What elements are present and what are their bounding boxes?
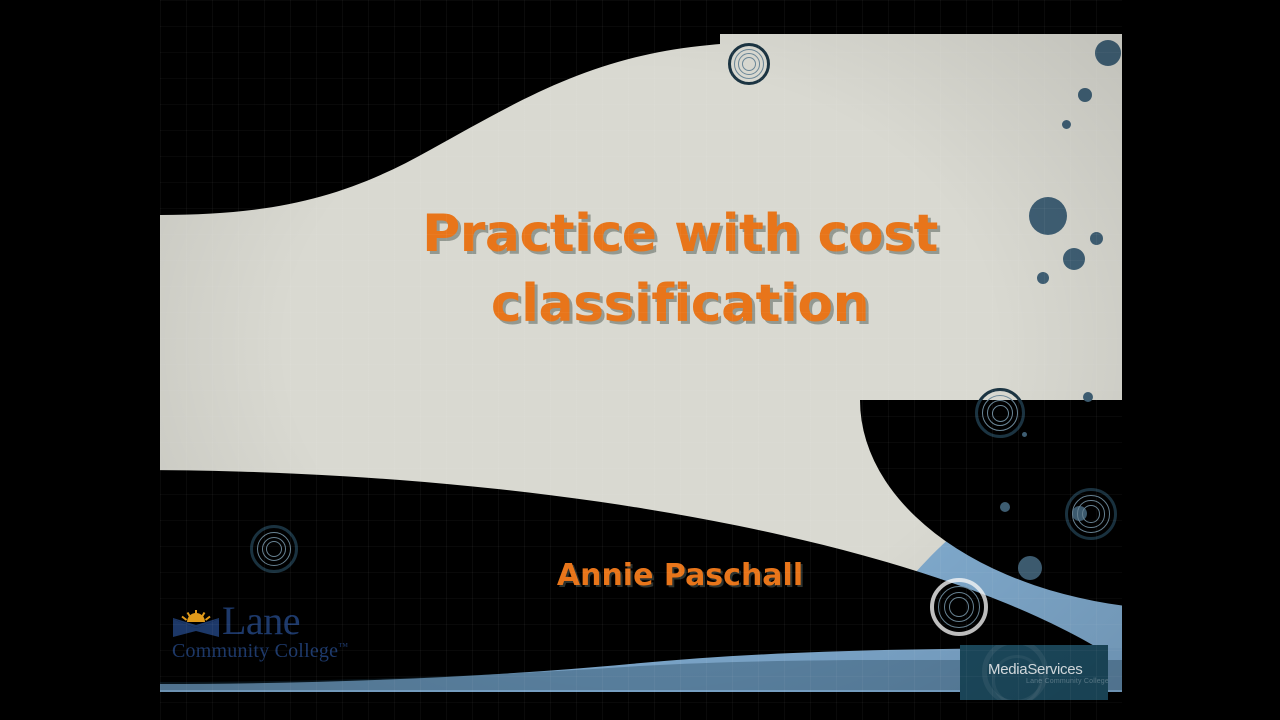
decor-dot xyxy=(1037,272,1049,284)
media-services-watermark: MediaServices Lane Community College xyxy=(960,645,1108,700)
decor-dot xyxy=(1000,502,1010,512)
decor-ring xyxy=(949,597,969,617)
logo-subtext-row: Community College™ xyxy=(172,640,348,663)
decor-ring-group xyxy=(728,43,770,85)
slide-title: Practice with cost classification xyxy=(420,200,940,339)
decor-dot xyxy=(1078,88,1092,102)
logo-trademark: ™ xyxy=(338,641,348,652)
open-book-with-sunrise-icon xyxy=(172,606,220,638)
decor-dot xyxy=(1062,120,1071,129)
slide-presenter-name: Annie Paschall xyxy=(420,558,940,593)
watermark-sublabel: Lane Community College xyxy=(1026,678,1108,685)
decor-ring-group xyxy=(250,525,298,573)
watermark-label: MediaServices xyxy=(988,661,1082,678)
decor-dot xyxy=(1083,392,1093,402)
decor-ring xyxy=(992,405,1009,422)
decor-ring xyxy=(1082,505,1100,523)
logo-wordmark: Lane xyxy=(222,604,300,638)
presentation-slide: Practice with cost classification Annie … xyxy=(160,0,1122,720)
decor-dot xyxy=(1095,40,1121,66)
logo-row: Lane xyxy=(172,604,348,638)
decor-dot xyxy=(1090,232,1103,245)
decor-ring-group xyxy=(1065,488,1117,540)
decor-dot xyxy=(1063,248,1085,270)
decor-dot xyxy=(1029,197,1067,235)
decor-dot xyxy=(1018,556,1042,580)
decor-ring-group xyxy=(975,388,1025,438)
logo-subtext: Community College xyxy=(172,640,338,662)
video-frame: Practice with cost classification Annie … xyxy=(0,0,1280,720)
lane-community-college-logo: Lane Community College™ xyxy=(172,604,348,663)
